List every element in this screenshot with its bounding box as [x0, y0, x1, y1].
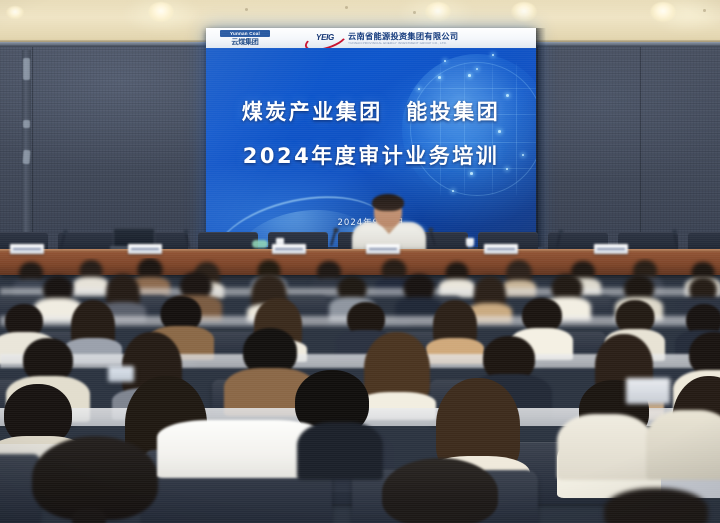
yunnan-coal-badge: Yunnan Coal: [220, 30, 270, 37]
paper-cup: [466, 238, 474, 247]
foreground-person: [650, 410, 720, 484]
yeig-name-cn: 云南省能源投资集团有限公司: [348, 32, 458, 41]
nameplate: [484, 244, 518, 254]
foreground-person: [370, 458, 510, 523]
globe-network-icon: [402, 54, 536, 204]
slide-title-line2: 2024年度审计业务培训: [206, 140, 536, 170]
yeig-wordmark: YEIG: [309, 33, 341, 42]
audience-area: [0, 258, 720, 523]
ceiling-downlight: [6, 6, 24, 19]
nameplate: [10, 244, 44, 254]
ceiling-downlight: [148, 2, 174, 22]
green-pouch: [252, 240, 268, 248]
conference-photo: Yunnan Coal 云煤集团 YEIG 云南省能源投资集团有限公司 YUNN…: [0, 0, 720, 523]
yeig-logo: YEIG 云南省能源投资集团有限公司 YUNNAN PROVINCIAL ENE…: [304, 30, 458, 46]
ceiling-downlight: [650, 2, 676, 22]
slide-logo-bar: Yunnan Coal 云煤集团 YEIG 云南省能源投资集团有限公司 YUNN…: [206, 28, 536, 49]
yunnan-coal-logo: Yunnan Coal 云煤集团: [220, 30, 270, 46]
laptop-icon: [626, 378, 670, 404]
nameplate: [272, 244, 306, 254]
audience-row-foreground: [0, 444, 720, 523]
laptop-icon: [108, 366, 134, 382]
ceiling-downlight: [425, 2, 451, 22]
foreground-person: [560, 414, 650, 484]
yeig-mark-icon: YEIG: [304, 30, 344, 46]
nameplate: [128, 244, 162, 254]
nameplate: [594, 244, 628, 254]
foreground-person: [20, 436, 170, 523]
foreground-person: [300, 422, 380, 482]
ceiling-downlight: [511, 2, 537, 22]
nameplate: [366, 244, 400, 254]
foreground-person: [596, 488, 716, 523]
yeig-name-en: YUNNAN PROVINCIAL ENERGY INVESTMENT GROU…: [348, 41, 458, 45]
slide-title-line1: 煤炭产业集团 能投集团: [206, 96, 536, 126]
yunnan-coal-name-cn: 云煤集团: [220, 38, 270, 46]
